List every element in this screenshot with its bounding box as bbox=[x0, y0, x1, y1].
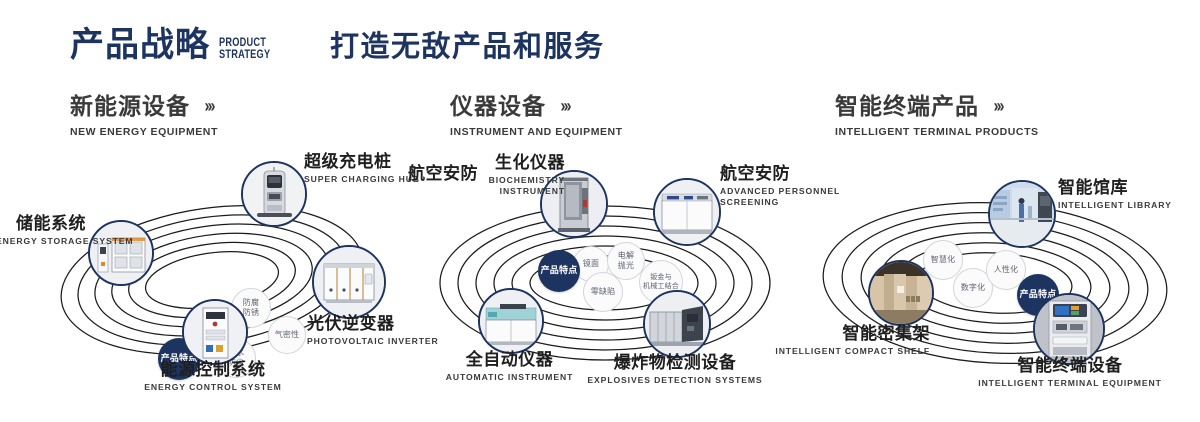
label-aviation-security-extra: 航空安防 bbox=[408, 166, 478, 184]
feature-chip-label: 电解 抛光 bbox=[618, 251, 634, 271]
chevron-right-icon: ››› bbox=[993, 95, 1002, 116]
section-title-cn: 仪器设备 bbox=[450, 96, 546, 119]
chevron-right-icon: ››› bbox=[560, 95, 569, 116]
cluster-new-energy: 户外 防腐 防锈 防水 防尘 气密性 产品特点 储能系统 ENERGY STOR… bbox=[0, 150, 420, 412]
feature-chip-label: 镜面 bbox=[583, 259, 599, 269]
section-header-intelligent: 智能终端产品 ››› INTELLIGENT TERMINAL PRODUCTS bbox=[835, 96, 1039, 138]
automatic-instrument-icon bbox=[480, 290, 542, 352]
explosives-detection-icon bbox=[645, 292, 709, 356]
node-energy-control-system[interactable] bbox=[182, 299, 248, 365]
center-chip-label: 产品特点 bbox=[541, 266, 578, 277]
label-intelligent-terminal-equipment: 智能终端设备 INTELLIGENT TERMINAL EQUIPMENT bbox=[975, 358, 1165, 389]
feature-chip-label: 钣金与 机械工结合 bbox=[643, 273, 679, 291]
node-photovoltaic-inverter[interactable] bbox=[312, 245, 386, 319]
page-subtitle: 打造无敌产品和服务 bbox=[330, 32, 605, 61]
feature-chip-label: 气密性 bbox=[275, 330, 300, 340]
cabinet-icon bbox=[90, 222, 152, 284]
page-title: 产品战略 PRODUCT STRATEGY bbox=[70, 28, 283, 62]
control-cabinet-icon bbox=[184, 301, 246, 363]
node-advanced-personnel-screening[interactable] bbox=[653, 178, 721, 246]
node-label-cn: 储能系统 bbox=[0, 216, 86, 234]
feature-chip-label: 零缺陷 bbox=[591, 287, 616, 297]
label-automatic-instrument: 全自动仪器 AUTOMATIC INSTRUMENT bbox=[422, 352, 597, 383]
cluster-instrument: 镜面 电解 抛光 零缺陷 钣金与 机械工结合 产品特点 生化仪器 BIOCHEM… bbox=[400, 150, 820, 412]
charger-icon bbox=[243, 163, 305, 225]
node-automatic-instrument[interactable] bbox=[478, 288, 544, 354]
node-label-en: INTELLIGENT LIBRARY bbox=[1058, 200, 1172, 211]
inverter-icon bbox=[314, 247, 384, 317]
node-super-charging-hub[interactable] bbox=[241, 161, 307, 227]
node-intelligent-terminal-equipment[interactable] bbox=[1033, 293, 1105, 365]
label-intelligent-library: 智能馆库 INTELLIGENT LIBRARY bbox=[1058, 180, 1172, 211]
label-intelligent-compact-shelf: 智能密集架 INTELLIGENT COMPACT SHELF bbox=[750, 326, 930, 357]
section-header-new-energy: 新能源设备 ››› NEW ENERGY EQUIPMENT bbox=[70, 96, 218, 138]
section-header-instrument: 仪器设备 ››› INSTRUMENT AND EQUIPMENT bbox=[450, 96, 623, 138]
section-title-cn: 新能源设备 bbox=[70, 96, 190, 119]
page-title-cn: 产品战略 bbox=[70, 28, 210, 62]
node-label-en: INTELLIGENT COMPACT SHELF bbox=[750, 346, 930, 357]
feature-chip: 气密性 bbox=[268, 316, 306, 354]
node-intelligent-compact-shelf[interactable] bbox=[868, 260, 934, 326]
node-label-cn: 全自动仪器 bbox=[422, 352, 597, 370]
cluster-intelligent: 智慧化 数字化 人性化 产品特点 智能馆库 IN bbox=[790, 150, 1200, 412]
feature-chip-label: 数字化 bbox=[961, 283, 986, 293]
terminal-kiosk-icon bbox=[1035, 295, 1103, 363]
label-energy-control-system: 能源控制系统 ENERGY CONTROL SYSTEM bbox=[118, 362, 308, 393]
page-title-en-line2: STRATEGY bbox=[219, 50, 270, 62]
node-label-en: ENERGY STORAGE SYSTEM bbox=[0, 236, 86, 247]
chevron-right-icon: ››› bbox=[204, 95, 213, 116]
section-title-en: INTELLIGENT TERMINAL PRODUCTS bbox=[835, 126, 1039, 138]
node-intelligent-library[interactable] bbox=[988, 180, 1056, 248]
section-title-en: INSTRUMENT AND EQUIPMENT bbox=[450, 126, 623, 138]
section-title-cn: 智能终端产品 bbox=[835, 96, 979, 119]
screening-machine-icon bbox=[655, 180, 719, 244]
node-explosives-detection-systems[interactable] bbox=[643, 290, 711, 358]
node-label-cn: 爆炸物检测设备 bbox=[585, 355, 765, 373]
page-title-en-line1: PRODUCT bbox=[219, 38, 270, 50]
feature-chip-label: 智慧化 bbox=[931, 255, 956, 265]
node-label-cn: 智能终端设备 bbox=[975, 358, 1165, 376]
feature-chip-label: 人性化 bbox=[994, 265, 1019, 275]
node-label-cn: 智能密集架 bbox=[750, 326, 930, 344]
node-label-en: ENERGY CONTROL SYSTEM bbox=[118, 382, 308, 393]
section-title-en: NEW ENERGY EQUIPMENT bbox=[70, 126, 218, 138]
node-label-en: AUTOMATIC INSTRUMENT bbox=[422, 372, 597, 383]
node-label-cn: 智能馆库 bbox=[1058, 180, 1172, 198]
library-photo-icon bbox=[990, 182, 1054, 246]
node-label-cn: 航空安防 bbox=[408, 166, 478, 184]
page-title-en: PRODUCT STRATEGY bbox=[219, 38, 270, 61]
node-label-en: INTELLIGENT TERMINAL EQUIPMENT bbox=[975, 378, 1165, 389]
label-energy-storage-system: 储能系统 ENERGY STORAGE SYSTEM bbox=[0, 216, 86, 247]
node-energy-storage-system[interactable] bbox=[88, 220, 154, 286]
label-explosives-detection-systems: 爆炸物检测设备 EXPLOSIVES DETECTION SYSTEMS bbox=[585, 355, 765, 386]
feature-chip: 零缺陷 bbox=[583, 272, 623, 312]
node-label-en: EXPLOSIVES DETECTION SYSTEMS bbox=[585, 375, 765, 386]
node-label-cn: 能源控制系统 bbox=[118, 362, 308, 380]
center-chip-product-features: 产品特点 bbox=[538, 250, 580, 292]
infographic-page: 产品战略 PRODUCT STRATEGY 打造无敌产品和服务 新能源设备 ››… bbox=[0, 0, 1200, 422]
compact-shelf-photo-icon bbox=[870, 262, 932, 324]
